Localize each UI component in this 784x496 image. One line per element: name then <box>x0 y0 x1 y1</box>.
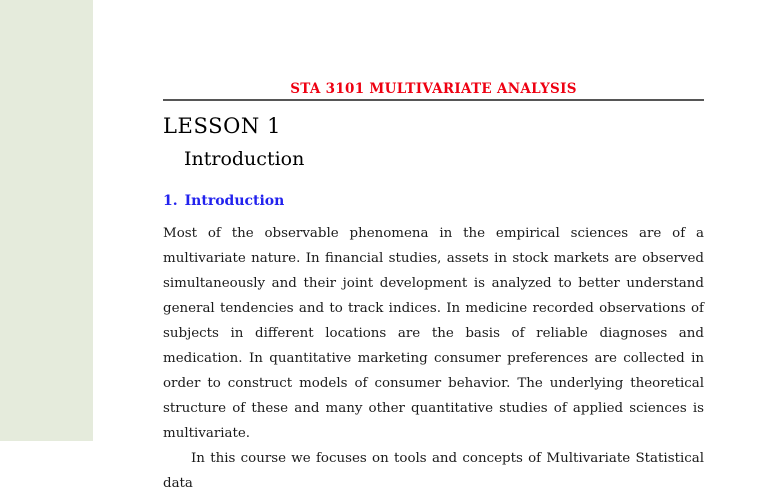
section-title: Introduction <box>185 193 285 209</box>
lesson-number-heading: LESSON 1 <box>163 114 281 138</box>
left-margin-band <box>0 0 93 441</box>
lesson-title-heading: Introduction <box>184 148 304 170</box>
body-paragraph-1: Most of the observable phenomena in the … <box>163 221 704 446</box>
body-text-block: Most of the observable phenomena in the … <box>163 221 704 496</box>
body-paragraph-2: In this course we focuses on tools and c… <box>163 446 704 496</box>
running-head: STA 3101 MULTIVARIATE ANALYSIS <box>163 78 704 97</box>
section-heading: 1.Introduction <box>163 193 284 209</box>
section-number: 1. <box>163 193 178 209</box>
running-head-text: STA 3101 MULTIVARIATE ANALYSIS <box>290 81 577 97</box>
header-rule <box>163 99 704 101</box>
content-column: STA 3101 MULTIVARIATE ANALYSIS LESSON 1 … <box>163 0 704 441</box>
document-page: STA 3101 MULTIVARIATE ANALYSIS LESSON 1 … <box>0 0 784 441</box>
